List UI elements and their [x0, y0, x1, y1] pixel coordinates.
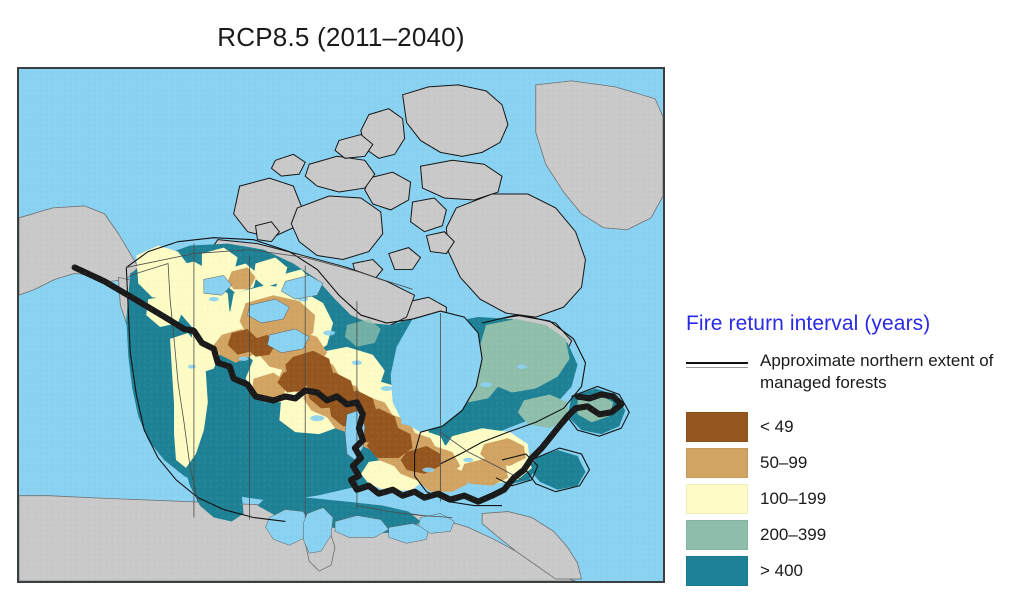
legend-item-managed-forest-line[interactable]: Approximate northern extent of managed f… — [686, 350, 1006, 395]
legend-swatch-50-99 — [686, 448, 748, 478]
legend-item-lt49[interactable]: < 49 — [686, 409, 1006, 445]
legend-class-list: < 49 50–99 100–199 200–399 > 400 — [686, 409, 1006, 589]
legend-swatch-200-399 — [686, 520, 748, 550]
legend-line-label: Approximate northern extent of managed f… — [760, 350, 1006, 395]
legend-item-50-99[interactable]: 50–99 — [686, 445, 1006, 481]
legend-label-gt400: > 400 — [760, 561, 803, 581]
legend-item-gt400[interactable]: > 400 — [686, 553, 1006, 589]
map-canvas[interactable] — [17, 67, 665, 583]
legend-label-50-99: 50–99 — [760, 453, 807, 473]
canada-fire-return-interval-map — [19, 69, 663, 581]
legend-swatch-gt400 — [686, 556, 748, 586]
legend-swatch-lt49 — [686, 412, 748, 442]
managed-forest-line-icon — [686, 360, 748, 372]
legend-item-200-399[interactable]: 200–399 — [686, 517, 1006, 553]
legend: Fire return interval (years) Approximate… — [686, 312, 1006, 589]
legend-label-lt49: < 49 — [760, 417, 794, 437]
legend-item-100-199[interactable]: 100–199 — [686, 481, 1006, 517]
raster-texture-overlay — [19, 69, 663, 581]
legend-label-200-399: 200–399 — [760, 525, 826, 545]
legend-title: Fire return interval (years) — [686, 312, 1006, 336]
page-title: RCP8.5 (2011–2040) — [17, 22, 665, 53]
legend-label-100-199: 100–199 — [760, 489, 826, 509]
legend-swatch-100-199 — [686, 484, 748, 514]
figure-root: RCP8.5 (2011–2040) — [0, 0, 1024, 608]
